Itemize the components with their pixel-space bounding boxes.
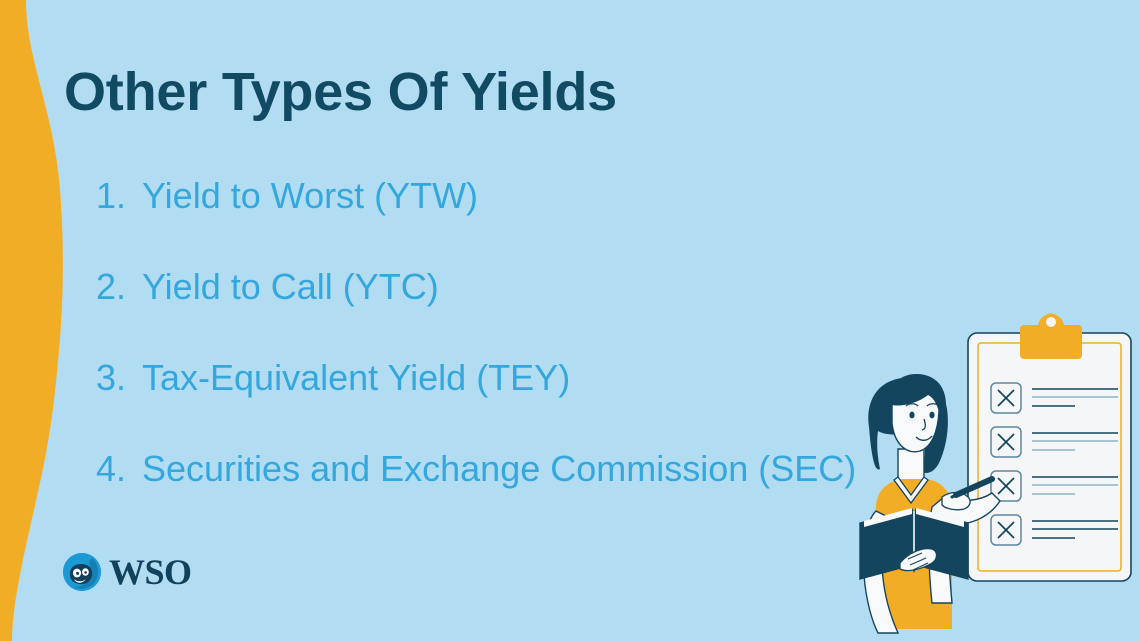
eye	[929, 412, 934, 419]
page-title: Other Types Of Yields	[64, 62, 617, 122]
wso-wordmark: WSO	[109, 554, 192, 590]
list-item-number: 3.	[96, 356, 142, 400]
list-item-number: 1.	[96, 174, 142, 218]
clipboard	[968, 314, 1131, 582]
wso-logo: WSO	[62, 552, 192, 592]
list-item-label: Securities and Exchange Commission (SEC)	[142, 447, 856, 491]
list-item-label: Yield to Worst (YTW)	[142, 174, 478, 218]
yield-types-list: 1. Yield to Worst (YTW) 2. Yield to Call…	[96, 174, 896, 538]
list-item-number: 4.	[96, 447, 142, 491]
clipboard-clip-icon	[1020, 314, 1082, 360]
list-item: 4. Securities and Exchange Commission (S…	[96, 447, 896, 538]
eye	[909, 412, 914, 419]
wso-monkey-circle-icon	[62, 552, 102, 592]
list-item: 3. Tax-Equivalent Yield (TEY)	[96, 356, 896, 447]
list-item-number: 2.	[96, 265, 142, 309]
list-item-label: Tax-Equivalent Yield (TEY)	[142, 356, 570, 400]
list-item: 2. Yield to Call (YTC)	[96, 265, 896, 356]
list-item: 1. Yield to Worst (YTW)	[96, 174, 896, 265]
slide-canvas: Other Types Of Yields 1. Yield to Worst …	[0, 0, 1140, 641]
list-item-label: Yield to Call (YTC)	[142, 265, 439, 309]
